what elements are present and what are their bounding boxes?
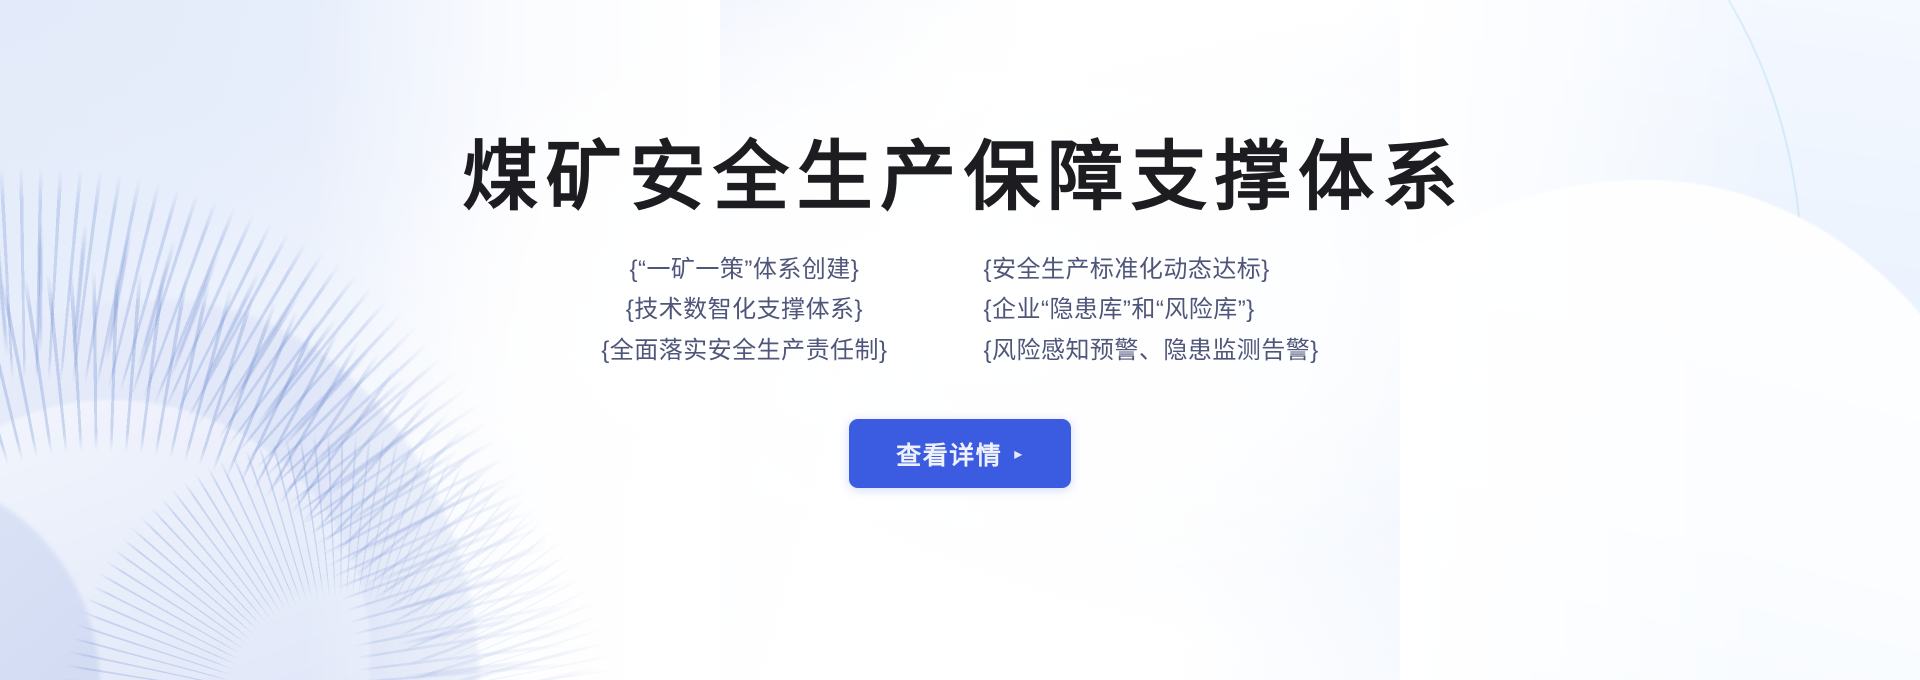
banner-content: 煤矿安全生产保障支撑体系 {“一矿一策”体系创建} {技术数智化支撑体系} {全… — [0, 0, 1920, 680]
feature-tag-column-left: {“一矿一策”体系创建} {技术数智化支撑体系} {全面落实安全生产责任制} — [601, 250, 887, 371]
feature-tag: {技术数智化支撑体系} — [626, 290, 863, 330]
cta-container: 查看详情 ▸ — [849, 419, 1071, 488]
page-title: 煤矿安全生产保障支撑体系 — [455, 140, 1466, 216]
feature-tag: {安全生产标准化动态达标} — [984, 250, 1270, 290]
view-details-button-label: 查看详情 — [896, 436, 1002, 472]
feature-tag-column-right: {安全生产标准化动态达标} {企业“隐患库”和“风险库”} {风险感知预警、隐患… — [984, 250, 1319, 371]
feature-tag: {“一矿一策”体系创建} — [629, 250, 859, 290]
feature-tag: {全面落实安全生产责任制} — [601, 331, 887, 371]
feature-tag: {企业“隐患库”和“风险库”} — [984, 290, 1255, 330]
play-triangle-icon: ▸ — [1014, 447, 1024, 463]
feature-tag: {风险感知预警、隐患监测告警} — [984, 331, 1319, 371]
feature-tag-grid: {“一矿一策”体系创建} {技术数智化支撑体系} {全面落实安全生产责任制} {… — [601, 250, 1319, 371]
view-details-button[interactable]: 查看详情 ▸ — [849, 419, 1071, 488]
hero-banner: 煤矿安全生产保障支撑体系 {“一矿一策”体系创建} {技术数智化支撑体系} {全… — [0, 0, 1920, 680]
